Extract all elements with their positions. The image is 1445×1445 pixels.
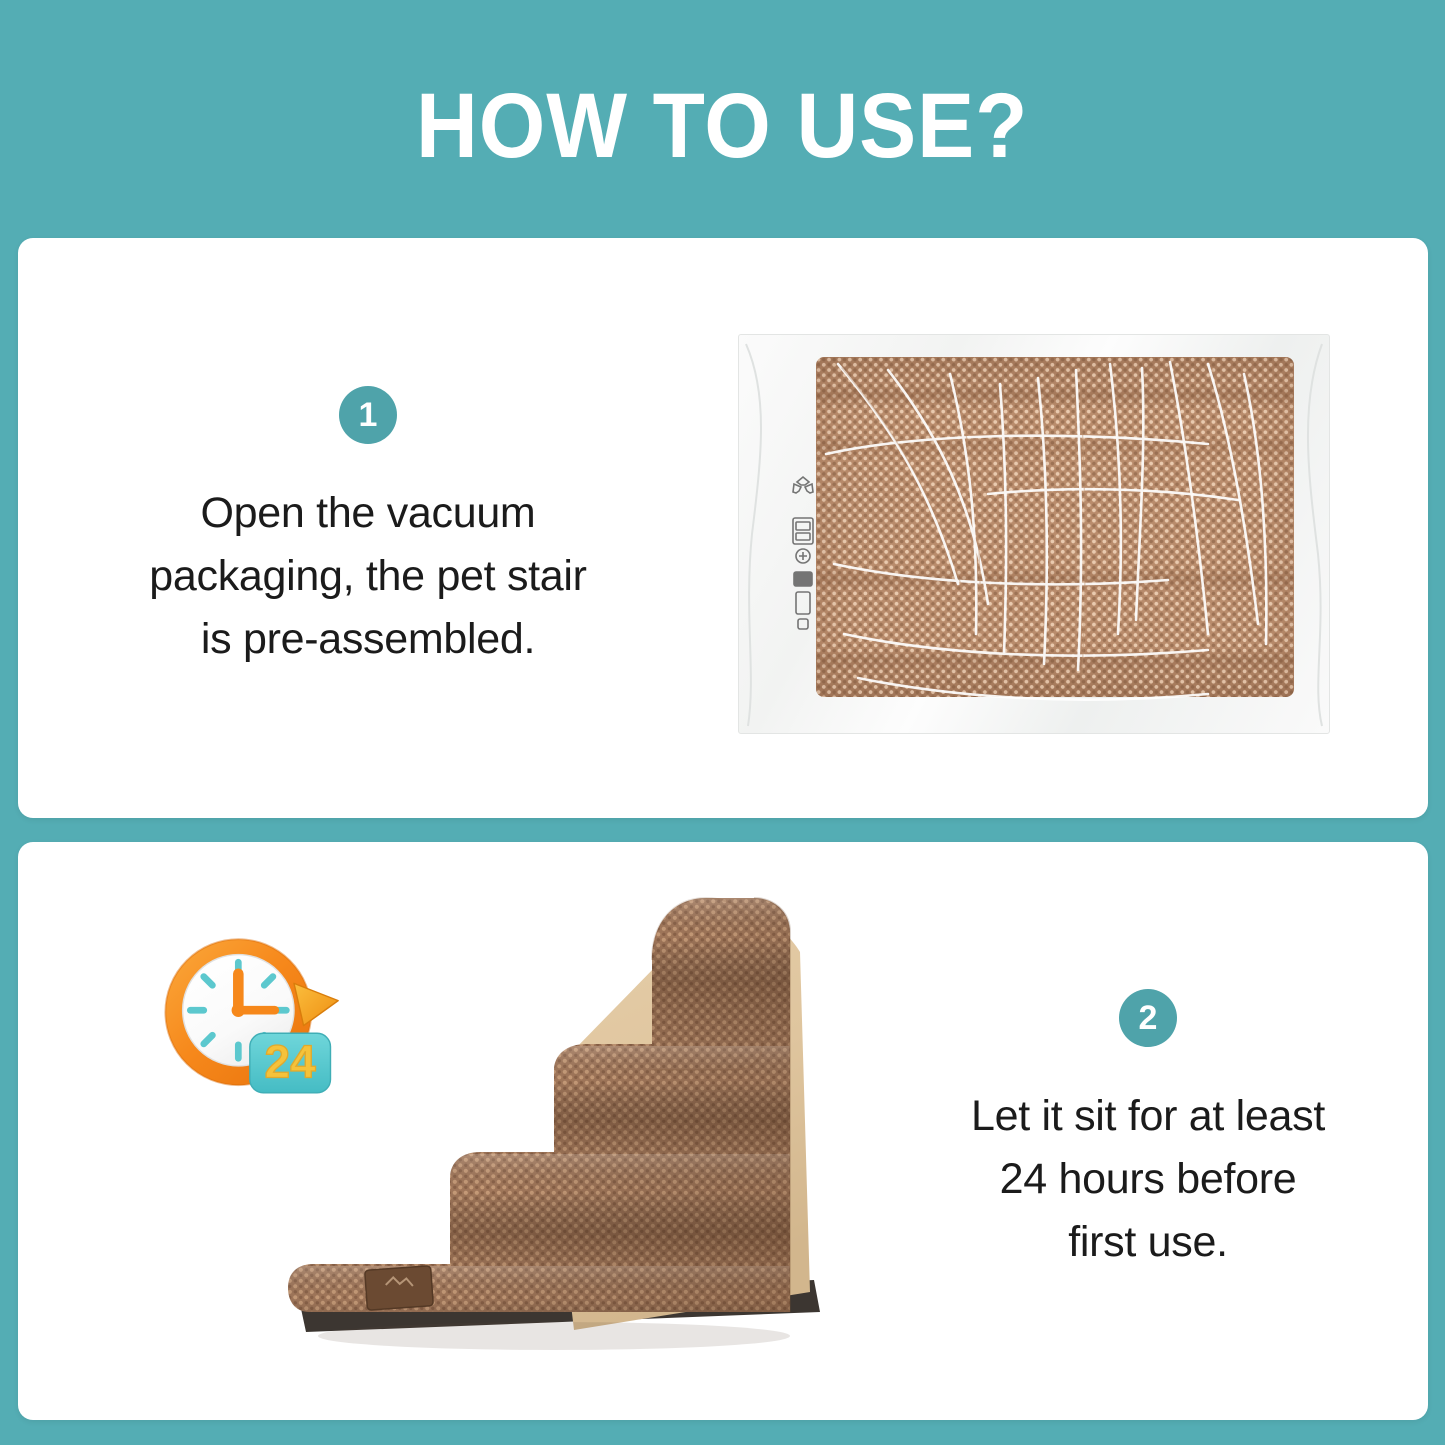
step-1-number-badge: 1: [339, 386, 397, 444]
step-2-text-block: 2 Let it sit for at least 24 hours befor…: [868, 842, 1428, 1420]
step-1-text-block: 1 Open the vacuum packaging, the pet sta…: [18, 238, 718, 818]
step-1-instruction-text: Open the vacuum packaging, the pet stair…: [108, 482, 628, 671]
compressed-fabric: [816, 357, 1294, 697]
step-card-1: 1 Open the vacuum packaging, the pet sta…: [18, 238, 1428, 818]
brand-label-tag: [365, 1266, 434, 1311]
step-2-instruction-text: Let it sit for at least 24 hours before …: [908, 1085, 1388, 1274]
vacuum-package-image: [738, 334, 1330, 734]
pet-stairs-image: [254, 860, 854, 1400]
page-header: HOW TO USE?: [0, 0, 1445, 238]
step-card-2: 24: [18, 842, 1428, 1420]
step-1-illustration: [718, 238, 1428, 818]
page-title: HOW TO USE?: [416, 66, 1028, 172]
step-2-number-badge: 2: [1119, 989, 1177, 1047]
step-2-illustration: 24: [18, 842, 868, 1420]
recycling-symbol-icon: [788, 474, 818, 634]
fabric-bands: [816, 357, 1294, 697]
